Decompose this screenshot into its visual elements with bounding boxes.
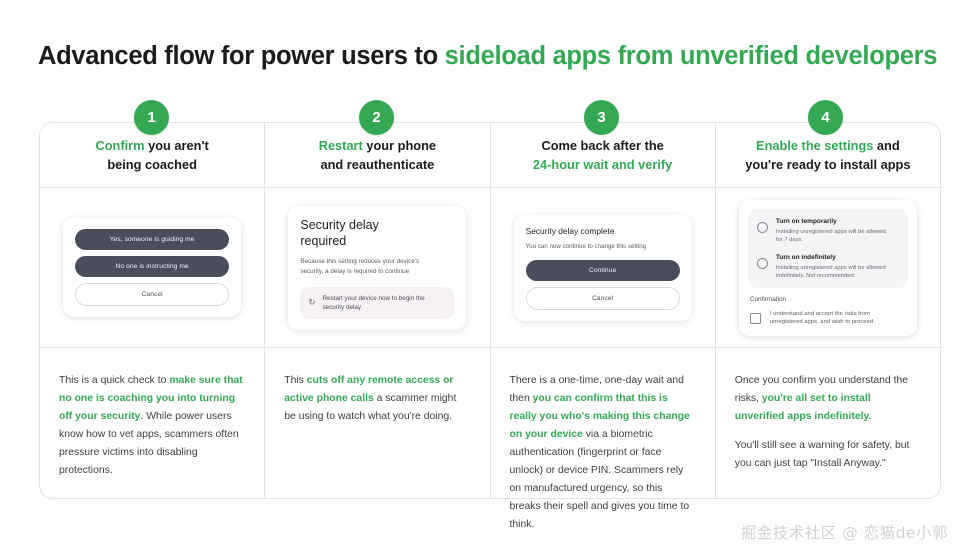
step-heading-row: Confirm you aren't being coached Restart…	[40, 123, 940, 188]
description-2-run-1-1: This	[284, 375, 307, 386]
mock-option-2-sub-line1: Installing unregistered apps will be all…	[776, 264, 886, 272]
step-title-1-rest: you aren't	[145, 138, 209, 153]
mockup-column-4: Turn on temporarily Installing unregiste…	[716, 188, 940, 348]
mock-option-turn-on-temporarily[interactable]: Turn on temporarily Installing unregiste…	[757, 217, 899, 244]
description-2: This cuts off any remote access or activ…	[265, 348, 489, 498]
description-3-run-1-3: via a biometric authentication (fingerpr…	[510, 429, 690, 530]
description-column-3: There is a one-time, one-day wait and th…	[491, 348, 716, 498]
step-title-2-rest: your phone	[363, 138, 436, 153]
step-title-2-green: Restart	[319, 138, 363, 153]
phone-mockup-security-delay-required: Security delay required Because this set…	[288, 206, 466, 330]
step-badge-3: 3	[584, 100, 619, 135]
mock-action-line2: security delay	[323, 304, 362, 311]
mock-radio-group: Turn on temporarily Installing unregiste…	[748, 209, 908, 288]
mock-option-1-text: Turn on temporarily Installing unregiste…	[776, 217, 886, 244]
radio-icon-temporarily[interactable]	[757, 222, 768, 233]
step-title-3-line2: 24-hour wait and verify	[533, 157, 672, 172]
mock-body-security-delay: Because this setting reduces your device…	[300, 257, 454, 277]
radio-icon-indefinitely[interactable]	[757, 258, 768, 269]
description-1: This is a quick check to make sure that …	[40, 348, 264, 498]
description-4: Once you confirm you understand the risk…	[716, 348, 940, 498]
mock-option-turn-on-indefinitely[interactable]: Turn on indefinitely Installing unregist…	[757, 253, 899, 280]
mock-option-2-sub-line2: indefinitely. Not recommended.	[776, 272, 886, 280]
mock-title-line2: required	[300, 234, 346, 248]
description-4-paragraph-1: Once you confirm you understand the risk…	[735, 372, 921, 426]
mockup-column-3: Security delay complete You can now cont…	[491, 188, 716, 348]
mock-button-continue[interactable]: Continue	[526, 260, 680, 281]
mockup-column-1: Yes, someone is guiding me No one is ins…	[40, 188, 265, 348]
mock-button-cancel[interactable]: Cancel	[75, 283, 229, 306]
description-2-paragraph-1: This cuts off any remote access or activ…	[284, 372, 470, 426]
mock-option-1-sub-line2: for 7 days.	[776, 236, 886, 244]
phone-mockup-enable-settings: Turn on temporarily Installing unregiste…	[739, 200, 917, 336]
checkbox-icon-accept-risks[interactable]	[750, 313, 761, 324]
step-title-1-line2: being coached	[107, 157, 197, 172]
mock-option-2-label: Turn on indefinitely	[776, 253, 886, 262]
mock-action-line1: Restart your device now to begin the	[323, 295, 425, 302]
mock-confirmation-text: I understand and accept the risks from u…	[770, 310, 873, 327]
description-column-4: Once you confirm you understand the risk…	[716, 348, 940, 498]
page-title-highlight: sideload apps from unverified developers	[445, 42, 937, 70]
mockup-area-3: Security delay complete You can now cont…	[491, 188, 715, 348]
step-title-3-rest: Come back after the	[541, 138, 663, 153]
mock-button-cancel-2[interactable]: Cancel	[526, 287, 680, 310]
step-title-4-green: Enable the settings	[756, 138, 873, 153]
step-badge-2: 2	[359, 100, 394, 135]
step-title-1: Confirm you aren't being coached	[95, 136, 208, 174]
mockup-area-4: Turn on temporarily Installing unregiste…	[716, 188, 940, 348]
description-3-paragraph-1: There is a one-time, one-day wait and th…	[510, 372, 696, 534]
phone-mockup-coaching-check: Yes, someone is guiding me No one is ins…	[63, 218, 241, 317]
mock-confirmation-checkbox-row[interactable]: I understand and accept the risks from u…	[748, 310, 908, 327]
description-1-run-1-1: This is a quick check to	[59, 375, 169, 386]
mock-option-1-sub-line1: Installing unregistered apps will be all…	[776, 228, 886, 236]
description-4-run-2-1: You'll still see a warning for safety, b…	[735, 440, 910, 469]
mockup-row: Yes, someone is guiding me No one is ins…	[40, 188, 940, 348]
description-3: There is a one-time, one-day wait and th…	[491, 348, 715, 534]
description-1-paragraph-1: This is a quick check to make sure that …	[59, 372, 245, 480]
mockup-column-2: Security delay required Because this set…	[265, 188, 490, 348]
mock-option-2-text: Turn on indefinitely Installing unregist…	[776, 253, 886, 280]
step-title-2: Restart your phone and reauthenticate	[319, 136, 436, 174]
step-title-4-line2: you're ready to install apps	[745, 157, 910, 172]
watermark: 掘金技术社区 @ 恋猫de小郭	[741, 521, 948, 543]
mock-title-delay-complete: Security delay complete	[526, 226, 680, 236]
phone-mockup-security-delay-complete: Security delay complete You can now cont…	[514, 215, 692, 321]
mockup-area-2: Security delay required Because this set…	[265, 188, 489, 348]
mock-body-delay-complete: You can now continue to change this sett…	[526, 242, 680, 251]
step-badge-4: 4	[808, 100, 843, 135]
step-title-4: Enable the settings and you're ready to …	[745, 136, 910, 174]
page-title-lead: Advanced flow for power users to	[38, 42, 445, 70]
mock-title-line1: Security delay	[300, 218, 379, 232]
step-title-4-rest: and	[873, 138, 899, 153]
step-title-2-line2: and reauthenticate	[320, 157, 434, 172]
description-column-1: This is a quick check to make sure that …	[40, 348, 265, 498]
steps-card: Confirm you aren't being coached Restart…	[39, 122, 941, 499]
step-badge-1: 1	[134, 100, 169, 135]
mock-confirmation-line1: I understand and accept the risks from	[770, 311, 870, 317]
step-title-3: Come back after the 24-hour wait and ver…	[533, 136, 672, 174]
mock-confirmation-label: Confirmation	[750, 296, 906, 303]
mock-button-no-one-instructing[interactable]: No one is instructing me	[75, 256, 229, 277]
description-row: This is a quick check to make sure that …	[40, 348, 940, 498]
page-title: Advanced flow for power users to sideloa…	[38, 42, 937, 71]
mock-body-line2: security, a delay is required to continu…	[300, 268, 409, 275]
mock-action-text: Restart your device now to begin the sec…	[323, 294, 425, 312]
mock-action-restart-device[interactable]: ↻ Restart your device now to begin the s…	[300, 287, 454, 319]
step-title-1-green: Confirm	[95, 138, 144, 153]
mock-option-1-label: Turn on temporarily	[776, 217, 886, 226]
description-column-2: This cuts off any remote access or activ…	[265, 348, 490, 498]
mock-body-line1: Because this setting reduces your device…	[300, 258, 419, 265]
description-4-paragraph-2: You'll still see a warning for safety, b…	[735, 437, 921, 473]
mock-button-yes-guiding[interactable]: Yes, someone is guiding me	[75, 229, 229, 250]
mock-title-security-delay: Security delay required	[300, 217, 454, 249]
mockup-area-1: Yes, someone is guiding me No one is ins…	[40, 188, 264, 348]
restart-icon: ↻	[308, 297, 315, 308]
mock-confirmation-line2: unregistered apps, and wish to proceed	[770, 319, 873, 325]
